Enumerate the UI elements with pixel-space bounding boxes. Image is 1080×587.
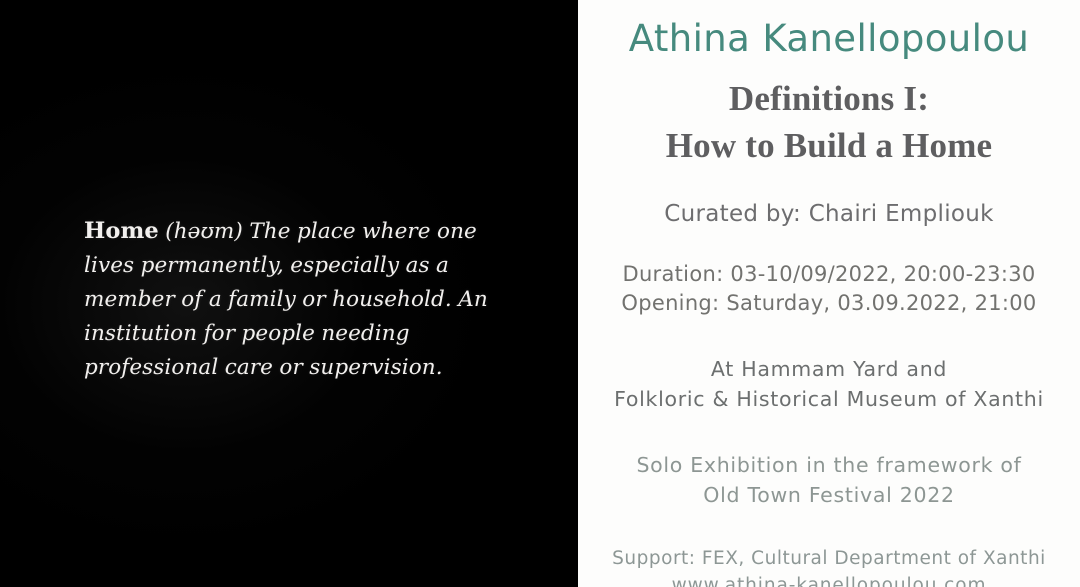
definition-block: Home (həʊm) The place where one lives pe… bbox=[84, 214, 524, 385]
duration-line: Duration: 03-10/09/2022, 20:00-23:30 bbox=[621, 260, 1036, 289]
definition-panel: Home (həʊm) The place where one lives pe… bbox=[0, 0, 578, 587]
framework-block: Solo Exhibition in the framework of Old … bbox=[636, 414, 1021, 510]
website-url[interactable]: www.athina-kanellopoulou.com bbox=[612, 572, 1046, 587]
exhibition-poster: Home (həʊm) The place where one lives pe… bbox=[0, 0, 1080, 587]
exhibition-title-line-2: How to Build a Home bbox=[666, 126, 993, 165]
info-panel: Athina Kanellopoulou Definitions I: How … bbox=[578, 0, 1080, 587]
schedule-block: Duration: 03-10/09/2022, 20:00-23:30 Ope… bbox=[621, 228, 1036, 318]
definition-ipa: (həʊm) bbox=[165, 219, 243, 244]
support-credit: Support: FEX, Cultural Department of Xan… bbox=[612, 545, 1046, 572]
venue-line-2: Folkloric & Historical Museum of Xanthi bbox=[614, 384, 1044, 414]
exhibition-title-line-1: Definitions I: bbox=[729, 79, 929, 118]
venue-line-1: At Hammam Yard and bbox=[614, 354, 1044, 384]
framework-line-2: Old Town Festival 2022 bbox=[636, 480, 1021, 510]
artist-name: Athina Kanellopoulou bbox=[629, 0, 1029, 61]
definition-text: Home (həʊm) The place where one lives pe… bbox=[84, 214, 524, 385]
venue-block: At Hammam Yard and Folkloric & Historica… bbox=[614, 318, 1044, 414]
definition-headword: Home bbox=[84, 218, 159, 244]
curator-credit: Curated by: Chairi Empliouk bbox=[664, 169, 994, 228]
exhibition-title: Definitions I: How to Build a Home bbox=[666, 61, 993, 169]
opening-line: Opening: Saturday, 03.09.2022, 21:00 bbox=[621, 289, 1036, 318]
framework-line-1: Solo Exhibition in the framework of bbox=[636, 450, 1021, 480]
support-block: Support: FEX, Cultural Department of Xan… bbox=[612, 510, 1046, 587]
